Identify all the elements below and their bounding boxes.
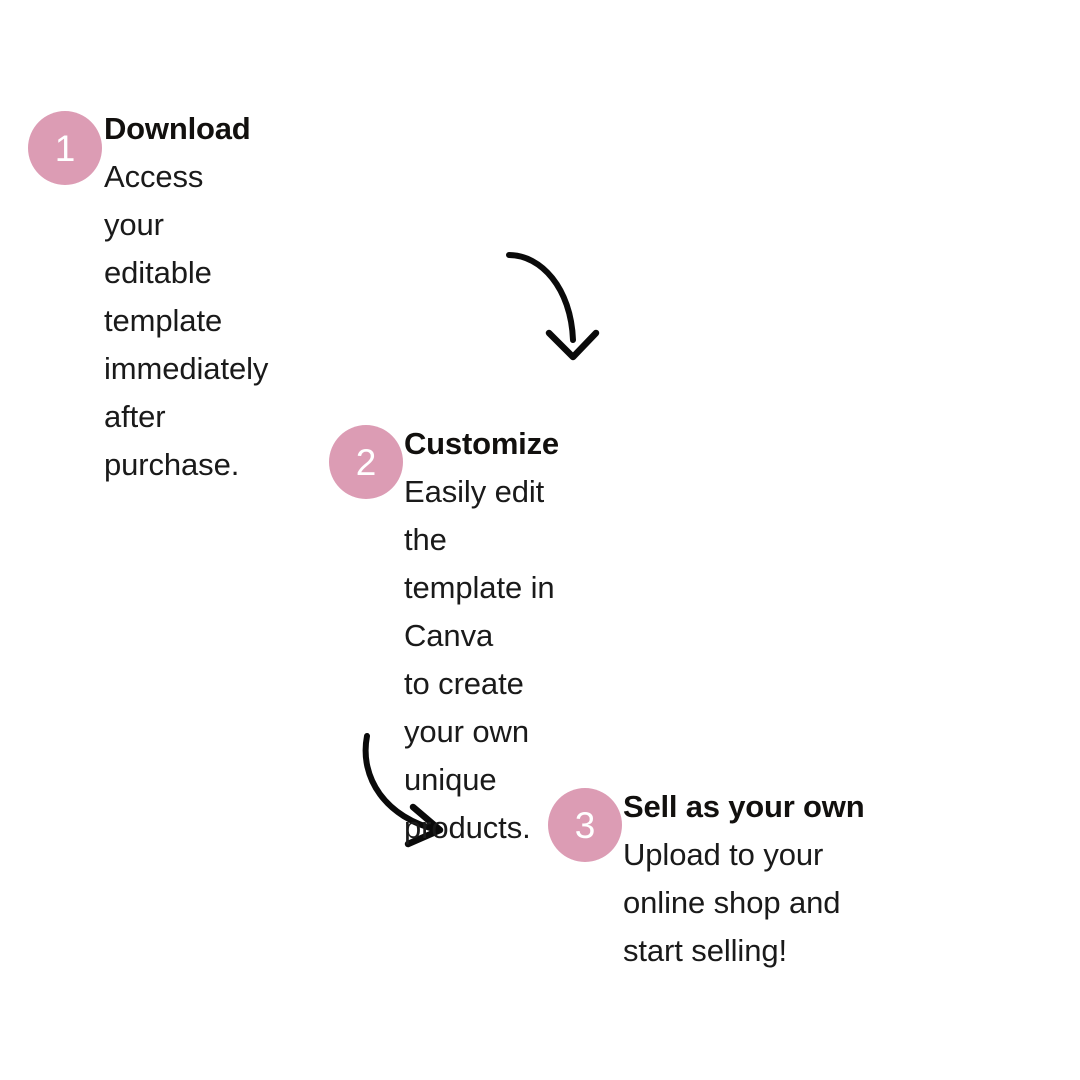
step-title-3: Sell as your own	[623, 783, 864, 831]
step-body-2: Easily edit the template in Canva to cre…	[404, 468, 559, 852]
step-text-block-3: Sell as your own Upload to your online s…	[623, 783, 864, 975]
step-text-block-1: Download Access your editable template i…	[104, 105, 268, 489]
step-number-badge-1: 1	[28, 111, 102, 185]
step-title-2: Customize	[404, 420, 559, 468]
step-text-block-2: Customize Easily edit the template in Ca…	[404, 420, 559, 852]
step-number-badge-3: 3	[548, 788, 622, 862]
step-number-badge-2: 2	[329, 425, 403, 499]
step-number-label-2: 2	[356, 444, 377, 481]
step-body-1: Access your editable template immediatel…	[104, 153, 268, 489]
step-number-label-3: 3	[575, 807, 596, 844]
curved-arrow-down-icon	[495, 240, 635, 375]
infographic-canvas: 1 Download Access your editable template…	[0, 0, 1080, 1080]
step-body-3: Upload to your online shop and start sel…	[623, 831, 864, 975]
step-title-1: Download	[104, 105, 268, 153]
step-number-label-1: 1	[55, 130, 76, 167]
